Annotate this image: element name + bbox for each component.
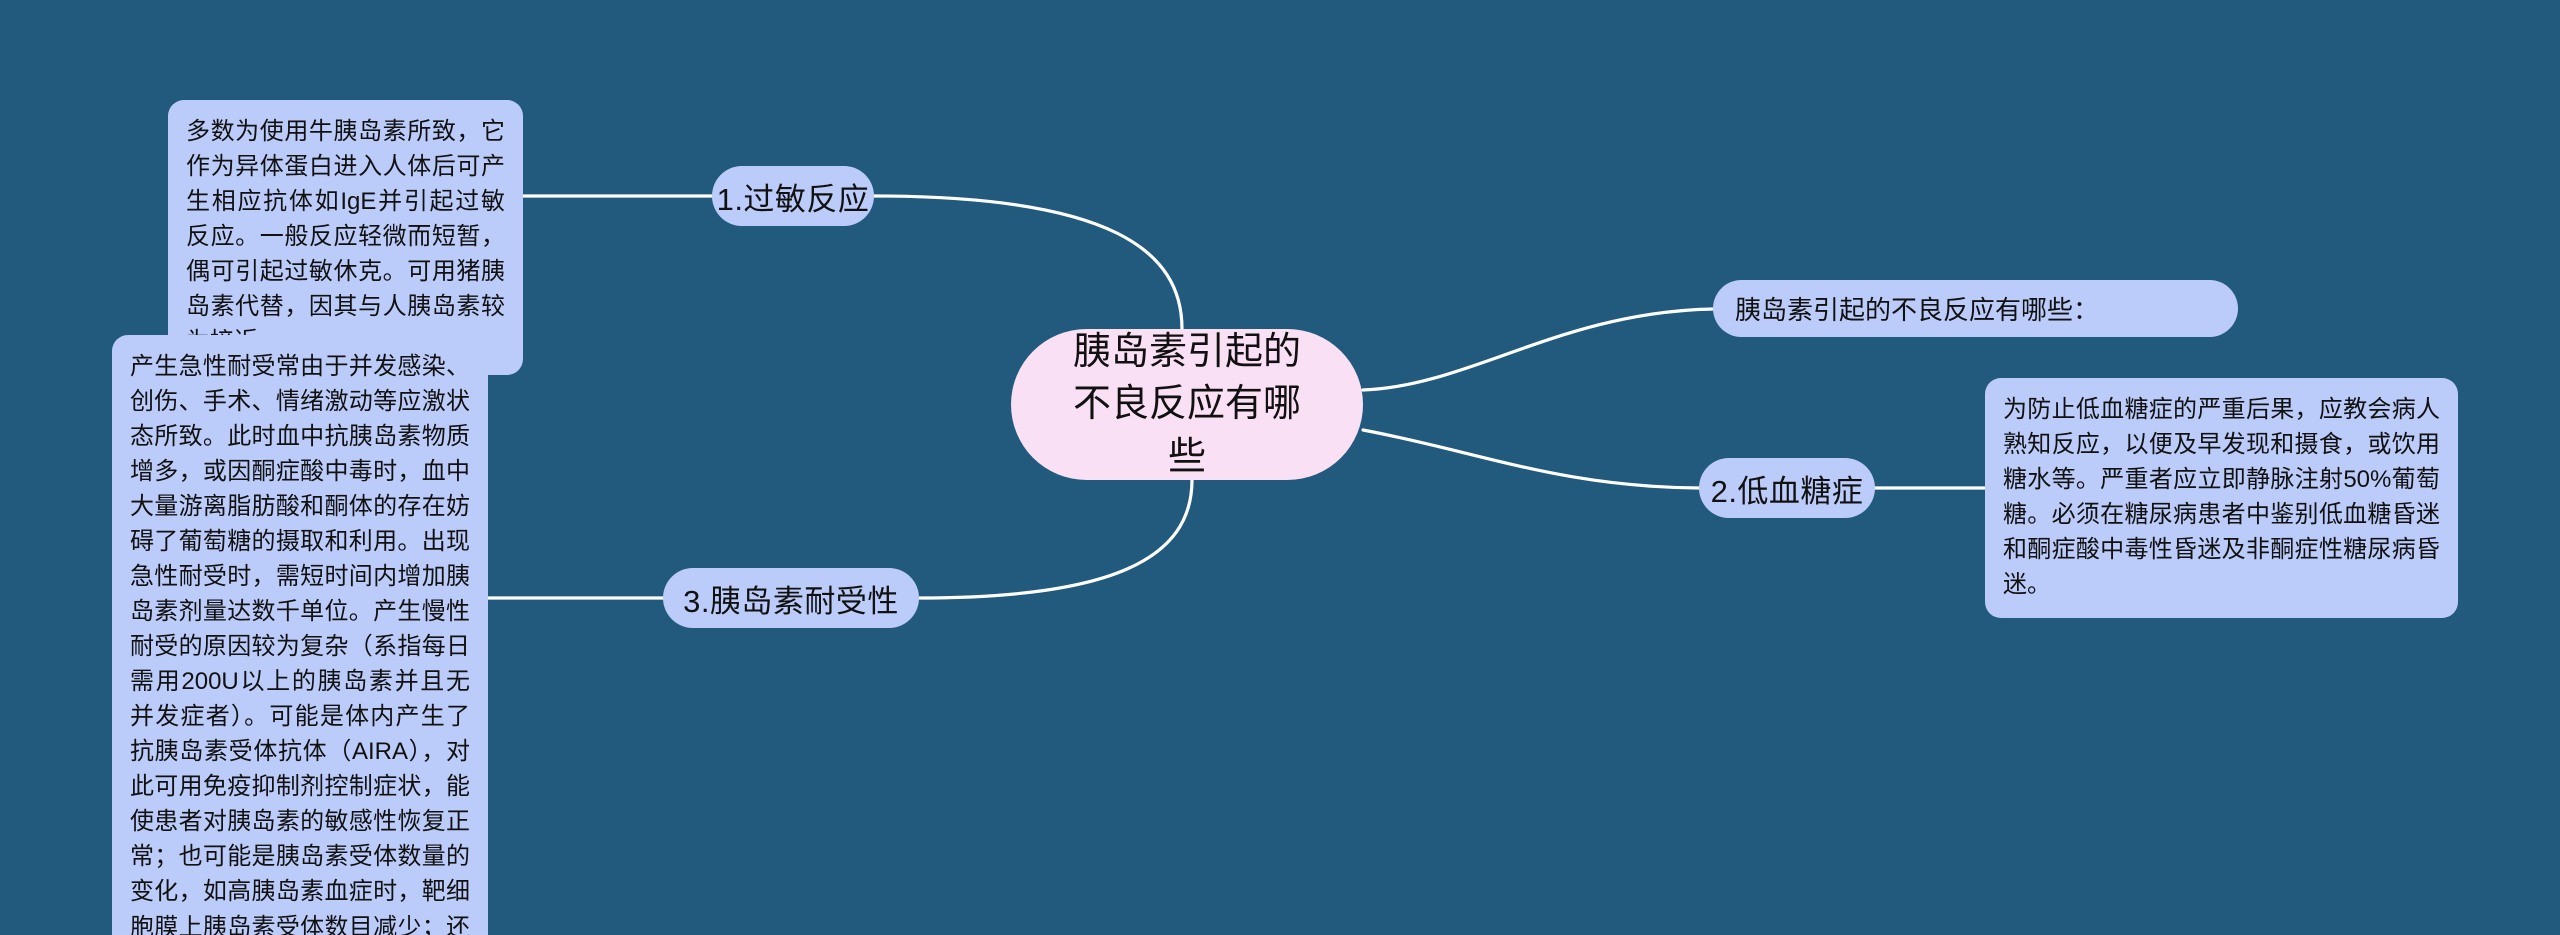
topic-node-hypoglycemia[interactable]: 2.低血糖症 [1699, 458, 1875, 518]
mindmap-canvas: 多数为使用牛胰岛素所致，它作为异体蛋白进入人体后可产生相应抗体如IgE并引起过敏… [0, 0, 2560, 935]
link-root-to-tolerance [919, 480, 1192, 598]
note-tolerance[interactable]: 产生急性耐受常由于并发感染、创伤、手术、情绪激动等应激状态所致。此时血中抗胰岛素… [112, 335, 488, 935]
link-root-to-title [1363, 309, 1713, 390]
topic-node-tolerance[interactable]: 3.胰岛素耐受性 [663, 568, 919, 628]
title-node[interactable]: 胰岛素引起的不良反应有哪些： [1713, 280, 2238, 337]
topic-node-allergy[interactable]: 1.过敏反应 [712, 166, 874, 226]
link-root-to-hypoglycemia [1363, 430, 1699, 488]
link-root-to-allergy [874, 196, 1182, 329]
note-hypoglycemia[interactable]: 为防止低血糖症的严重后果，应教会病人熟知反应，以便及早发现和摄食，或饮用糖水等。… [1985, 378, 2458, 618]
root-node[interactable]: 胰岛素引起的不良反应有哪些 [1011, 329, 1363, 480]
note-allergy[interactable]: 多数为使用牛胰岛素所致，它作为异体蛋白进入人体后可产生相应抗体如IgE并引起过敏… [168, 100, 523, 375]
